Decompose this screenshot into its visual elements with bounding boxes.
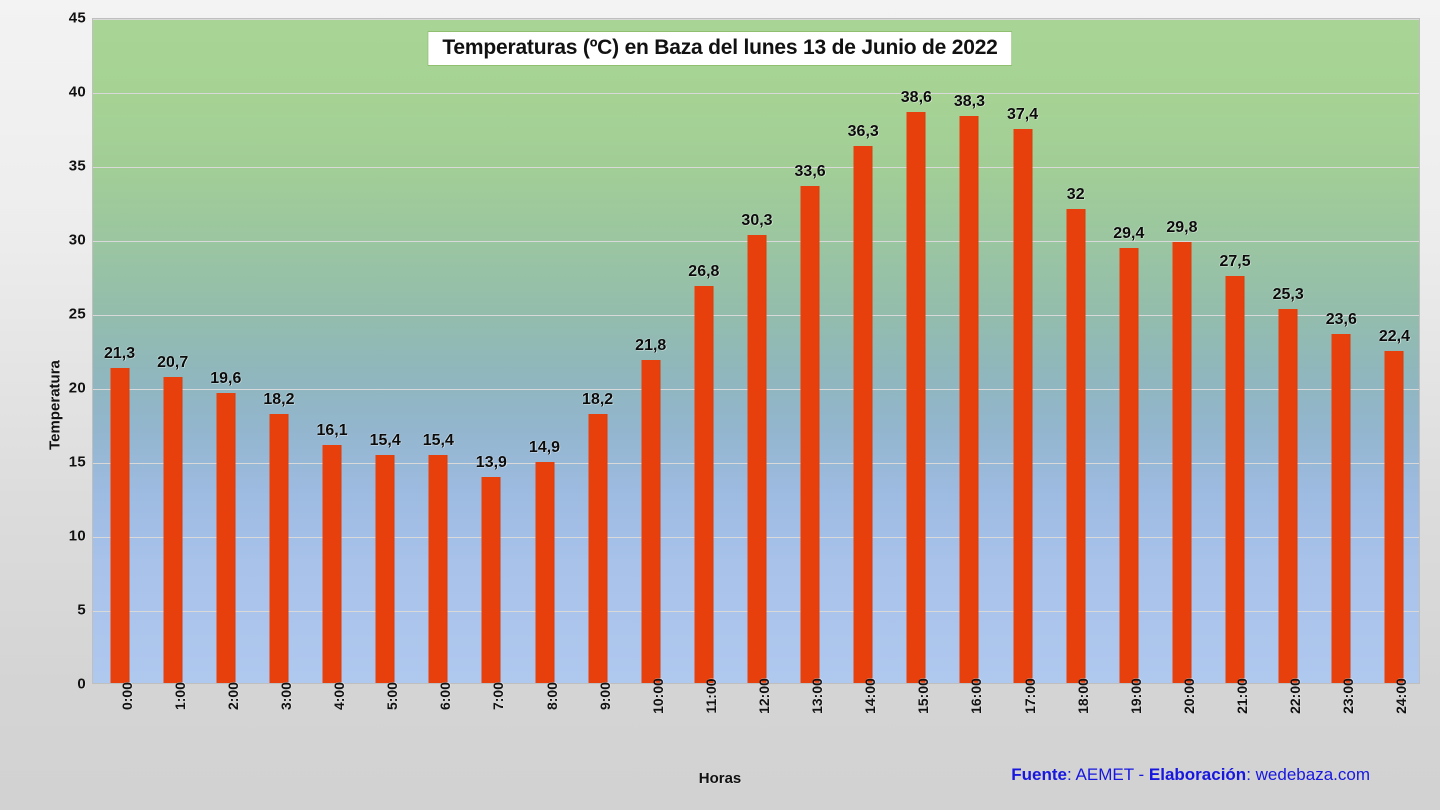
bar[interactable] [482, 477, 501, 683]
x-axis-tick-label: 24:00 [1393, 678, 1409, 714]
bar-value-label: 30,3 [741, 212, 772, 230]
bar-slot: 37,4 [996, 19, 1049, 683]
author-value: wedebaza.com [1256, 765, 1370, 784]
bar[interactable] [216, 393, 235, 683]
bar-slot: 27,5 [1209, 19, 1262, 683]
bar[interactable] [323, 445, 342, 683]
x-axis-tick-label: 23:00 [1340, 678, 1356, 714]
x-axis-tick-label: 20:00 [1181, 678, 1197, 714]
temperature-bar-chart: 21,320,719,618,216,115,415,413,914,918,2… [0, 0, 1440, 810]
y-axis-title: Temperatura [46, 360, 63, 450]
bar[interactable] [163, 377, 182, 683]
bar[interactable] [1385, 351, 1404, 683]
bar[interactable] [1279, 309, 1298, 683]
x-axis-tick-label: 11:00 [703, 678, 719, 713]
x-axis-tick-label: 22:00 [1287, 678, 1303, 714]
bar-value-label: 27,5 [1219, 253, 1250, 271]
y-axis-tick: 20 [26, 380, 86, 397]
bar-value-label: 38,3 [954, 93, 985, 111]
bar-value-label: 19,6 [210, 370, 241, 388]
x-axis-tick-label: 6:00 [437, 682, 453, 710]
bar-slot: 21,8 [624, 19, 677, 683]
bar[interactable] [1119, 248, 1138, 683]
bar[interactable] [854, 146, 873, 683]
plot-area: 21,320,719,618,216,115,415,413,914,918,2… [92, 18, 1420, 684]
bar-value-label: 13,9 [476, 454, 507, 472]
source-note: Fuente: AEMET - Elaboración: wedebaza.co… [1011, 765, 1370, 785]
bar-value-label: 33,6 [795, 163, 826, 181]
bar-slot: 13,9 [465, 19, 518, 683]
bar-slot: 36,3 [837, 19, 890, 683]
bar-slot: 15,4 [359, 19, 412, 683]
y-axis-tick: 35 [26, 158, 86, 175]
x-axis-tick-label: 21:00 [1234, 678, 1250, 714]
bar-slot: 16,1 [305, 19, 358, 683]
bar[interactable] [1013, 129, 1032, 683]
bar[interactable] [747, 235, 766, 683]
source-value: AEMET [1076, 765, 1134, 784]
bar-value-label: 21,3 [104, 345, 135, 363]
bar-value-label: 15,4 [370, 432, 401, 450]
bar-value-label: 32 [1067, 186, 1085, 204]
bar-slot: 33,6 [784, 19, 837, 683]
bar-value-label: 29,8 [1166, 219, 1197, 237]
bar-value-label: 15,4 [423, 432, 454, 450]
x-axis-tick-label: 16:00 [968, 678, 984, 714]
y-axis-tick: 0 [26, 676, 86, 693]
bar-value-label: 29,4 [1113, 225, 1144, 243]
bar-slot: 15,4 [412, 19, 465, 683]
bar-slot: 38,3 [943, 19, 996, 683]
author-label: Elaboración [1149, 765, 1246, 784]
bar-slot: 25,3 [1262, 19, 1315, 683]
bar[interactable] [429, 455, 448, 683]
bar-slot: 21,3 [93, 19, 146, 683]
bar-value-label: 18,2 [582, 391, 613, 409]
bar-slot: 18,2 [571, 19, 624, 683]
y-axis-tick: 10 [26, 528, 86, 545]
bar[interactable] [376, 455, 395, 683]
x-axis-tick-label: 17:00 [1022, 678, 1038, 714]
bar-value-label: 38,6 [901, 89, 932, 107]
bar[interactable] [110, 368, 129, 683]
bar[interactable] [1226, 276, 1245, 683]
bar-slot: 23,6 [1315, 19, 1368, 683]
bar-value-label: 20,7 [157, 354, 188, 372]
x-axis-tick-label: 7:00 [490, 682, 506, 710]
y-axis-tick: 25 [26, 306, 86, 323]
bar-value-label: 18,2 [263, 391, 294, 409]
x-axis-tick-label: 3:00 [278, 682, 294, 710]
bar-value-label: 14,9 [529, 439, 560, 457]
x-axis-tick-label: 13:00 [809, 678, 825, 714]
bar-slot: 19,6 [199, 19, 252, 683]
bar-slot: 14,9 [518, 19, 571, 683]
bar[interactable] [1066, 209, 1085, 683]
bar-value-label: 25,3 [1273, 286, 1304, 304]
x-axis-tick-label: 0:00 [119, 682, 135, 710]
bar-value-label: 26,8 [688, 263, 719, 281]
bar-slot: 32 [1049, 19, 1102, 683]
author-colon: : [1246, 765, 1255, 784]
y-axis-tick: 45 [26, 10, 86, 27]
bar[interactable] [801, 186, 820, 683]
y-axis-tick: 40 [26, 84, 86, 101]
x-axis-tick-label: 5:00 [384, 682, 400, 710]
x-axis-tick-label: 9:00 [597, 682, 613, 710]
bar[interactable] [588, 414, 607, 683]
x-axis-tick-label: 4:00 [331, 682, 347, 710]
bar-value-label: 22,4 [1379, 328, 1410, 346]
x-axis-tick-label: 14:00 [862, 678, 878, 714]
x-axis-tick-label: 1:00 [172, 682, 188, 710]
bar-slot: 22,4 [1368, 19, 1421, 683]
bar[interactable] [269, 414, 288, 683]
x-axis-tick-label: 2:00 [225, 682, 241, 710]
bar-value-label: 37,4 [1007, 106, 1038, 124]
x-axis-tick-label: 18:00 [1075, 678, 1091, 714]
source-label: Fuente [1011, 765, 1067, 784]
y-axis-tick: 30 [26, 232, 86, 249]
chart-title: Temperaturas (ºC) en Baza del lunes 13 d… [427, 31, 1012, 66]
bar-value-label: 16,1 [316, 422, 347, 440]
bar-slot: 26,8 [677, 19, 730, 683]
bar[interactable] [535, 462, 554, 683]
bar-slot: 38,6 [890, 19, 943, 683]
y-axis-tick: 5 [26, 602, 86, 619]
bar-value-label: 23,6 [1326, 311, 1357, 329]
bar-slot: 29,4 [1102, 19, 1155, 683]
bar-slot: 29,8 [1155, 19, 1208, 683]
bar[interactable] [1332, 334, 1351, 683]
source-colon: : [1067, 765, 1076, 784]
bar[interactable] [694, 286, 713, 683]
x-axis-tick-label: 19:00 [1128, 678, 1144, 714]
bar[interactable] [641, 360, 660, 683]
bar[interactable] [1172, 242, 1191, 683]
x-axis-tick-label: 10:00 [650, 678, 666, 714]
bar-value-label: 21,8 [635, 337, 666, 355]
x-axis-tick-label: 8:00 [544, 682, 560, 710]
bar-value-label: 36,3 [848, 123, 879, 141]
y-axis-tick: 15 [26, 454, 86, 471]
bar[interactable] [960, 116, 979, 683]
bar-slot: 30,3 [730, 19, 783, 683]
x-axis-tick-label: 12:00 [756, 678, 772, 714]
bar[interactable] [907, 112, 926, 683]
source-separator: - [1134, 765, 1149, 784]
bar-slot: 20,7 [146, 19, 199, 683]
x-axis-tick-label: 15:00 [915, 678, 931, 714]
bar-slot: 18,2 [252, 19, 305, 683]
